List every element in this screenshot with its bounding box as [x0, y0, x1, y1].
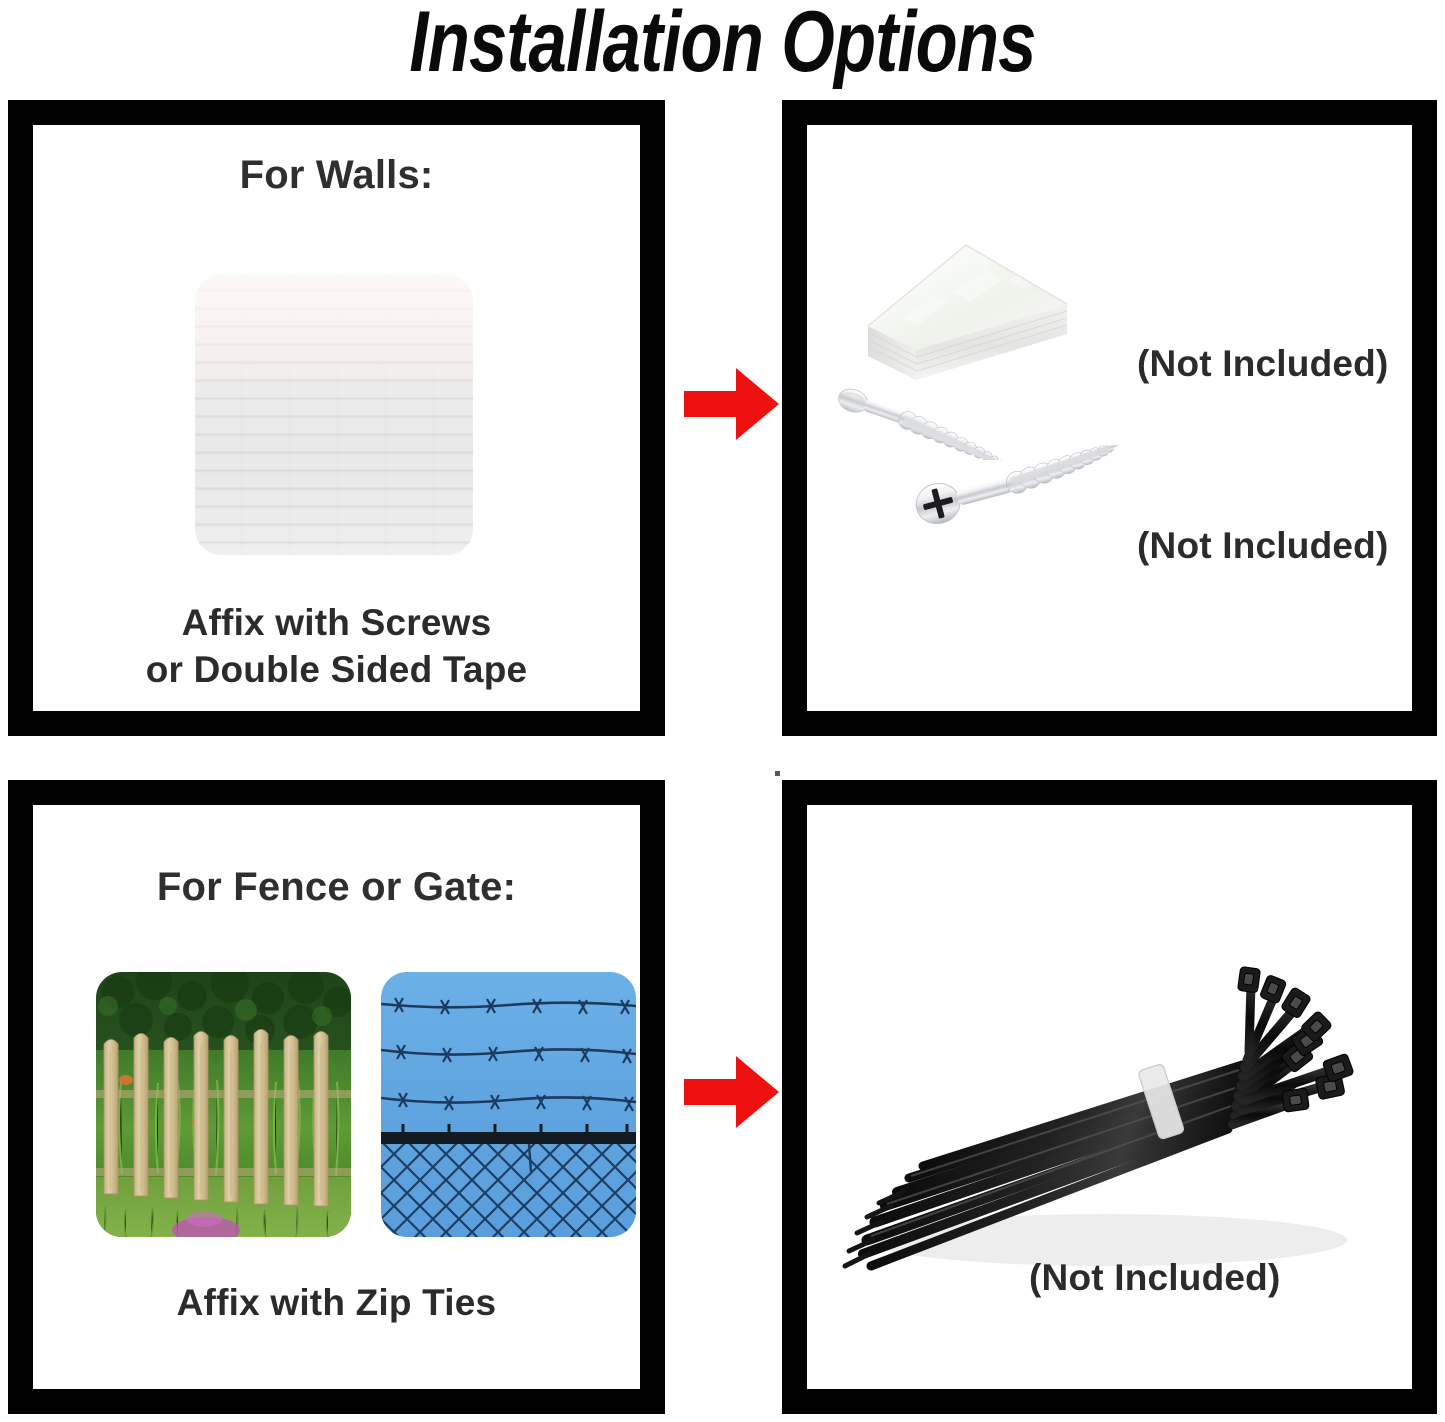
panel-zip-ties-inner: (Not Included) [807, 805, 1412, 1389]
white-brick-wall-swatch [195, 275, 473, 555]
panel-wall-hardware-inner: (Not Included) [807, 125, 1412, 711]
screw-lower [912, 445, 1142, 535]
tape-not-included-label: (Not Included) [1137, 343, 1388, 385]
panel-for-fence-or-gate-inner: For Fence or Gate: [33, 805, 640, 1389]
installation-options-infographic: Installation Options For Walls: Affix wi… [0, 0, 1445, 1422]
image-artifact-dot [775, 771, 780, 776]
wooden-picket-fence-photo [96, 972, 351, 1237]
panel-wall-hardware: (Not Included) [782, 100, 1437, 736]
panel-for-walls: For Walls: Affix with Screws or Double S… [8, 100, 665, 736]
black-zip-ties-bundle [827, 910, 1372, 1300]
chain-link-fence-photo [381, 972, 636, 1237]
brick-highlight-fade [195, 275, 473, 393]
double-sided-tape-stack [862, 230, 1100, 395]
for-walls-caption-line-2: or Double Sided Tape [33, 646, 640, 693]
for-walls-caption-line-1: Affix with Screws [33, 599, 640, 646]
panel-zip-ties: (Not Included) [782, 780, 1437, 1414]
panel-for-fence-or-gate: For Fence or Gate: [8, 780, 665, 1414]
zipties-not-included-label: (Not Included) [1029, 1257, 1280, 1299]
for-fence-caption: Affix with Zip Ties [33, 1279, 640, 1326]
panel-for-walls-inner: For Walls: Affix with Screws or Double S… [33, 125, 640, 711]
for-walls-heading: For Walls: [33, 153, 640, 198]
page-title: Installation Options [145, 0, 1301, 90]
arrow-walls-to-hardware [684, 368, 779, 440]
screws-not-included-label: (Not Included) [1137, 525, 1388, 567]
arrow-fence-to-zipties [684, 1056, 779, 1128]
for-fence-heading: For Fence or Gate: [33, 865, 640, 910]
